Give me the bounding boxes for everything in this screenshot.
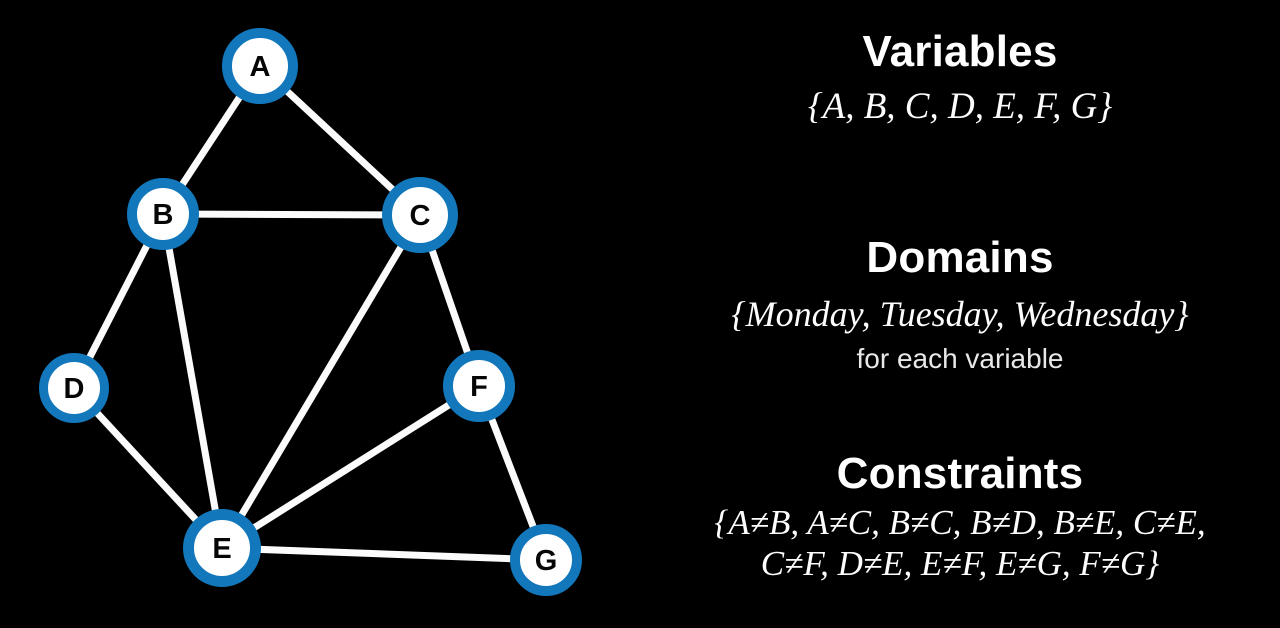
- node-label-a: A: [250, 51, 271, 83]
- graph-edge-c-e: [222, 215, 420, 548]
- node-label-g: G: [535, 545, 558, 577]
- graph-edge-e-g: [222, 548, 546, 560]
- graph-node-a[interactable]: A: [227, 33, 293, 99]
- graph-node-g[interactable]: G: [515, 529, 577, 591]
- domains-set-text: {Monday, Tuesday, Wednesday}: [640, 292, 1280, 337]
- graph-node-b[interactable]: B: [132, 183, 194, 245]
- domains-section: Domains {Monday, Tuesday, Wednesday} for…: [640, 232, 1280, 377]
- slide-canvas: ABCDEFG Variables {A, B, C, D, E, F, G} …: [0, 0, 1280, 628]
- node-label-d: D: [64, 373, 85, 405]
- domains-heading: Domains: [640, 232, 1280, 284]
- graph-node-f[interactable]: F: [448, 355, 510, 417]
- node-label-b: B: [153, 199, 174, 231]
- node-label-e: E: [212, 533, 231, 565]
- graph-edges-layer: [74, 66, 546, 560]
- definitions-panel: Variables {A, B, C, D, E, F, G} Domains …: [640, 0, 1280, 628]
- variables-section: Variables {A, B, C, D, E, F, G}: [640, 26, 1280, 129]
- constraints-line-1: {A≠B, A≠C, B≠C, B≠D, B≠E, C≠E,: [640, 502, 1280, 543]
- constraints-heading: Constraints: [640, 448, 1280, 500]
- constraint-graph-panel: ABCDEFG: [0, 0, 640, 628]
- constraints-set-text: {A≠B, A≠C, B≠C, B≠D, B≠E, C≠E, C≠F, D≠E,…: [640, 502, 1280, 584]
- node-label-f: F: [470, 371, 488, 403]
- variables-heading: Variables: [640, 26, 1280, 78]
- domains-note: for each variable: [640, 341, 1280, 377]
- graph-node-c[interactable]: C: [387, 182, 453, 248]
- constraint-graph: ABCDEFG: [0, 0, 640, 628]
- constraints-line-2: C≠F, D≠E, E≠F, E≠G, F≠G}: [640, 543, 1280, 584]
- variables-set-text: {A, B, C, D, E, F, G}: [640, 84, 1280, 129]
- graph-node-e[interactable]: E: [189, 515, 256, 582]
- node-label-c: C: [410, 200, 431, 232]
- graph-edge-e-f: [222, 386, 479, 548]
- graph-node-d[interactable]: D: [44, 358, 105, 419]
- graph-edge-b-c: [163, 214, 420, 215]
- constraints-section: Constraints {A≠B, A≠C, B≠C, B≠D, B≠E, C≠…: [640, 448, 1280, 584]
